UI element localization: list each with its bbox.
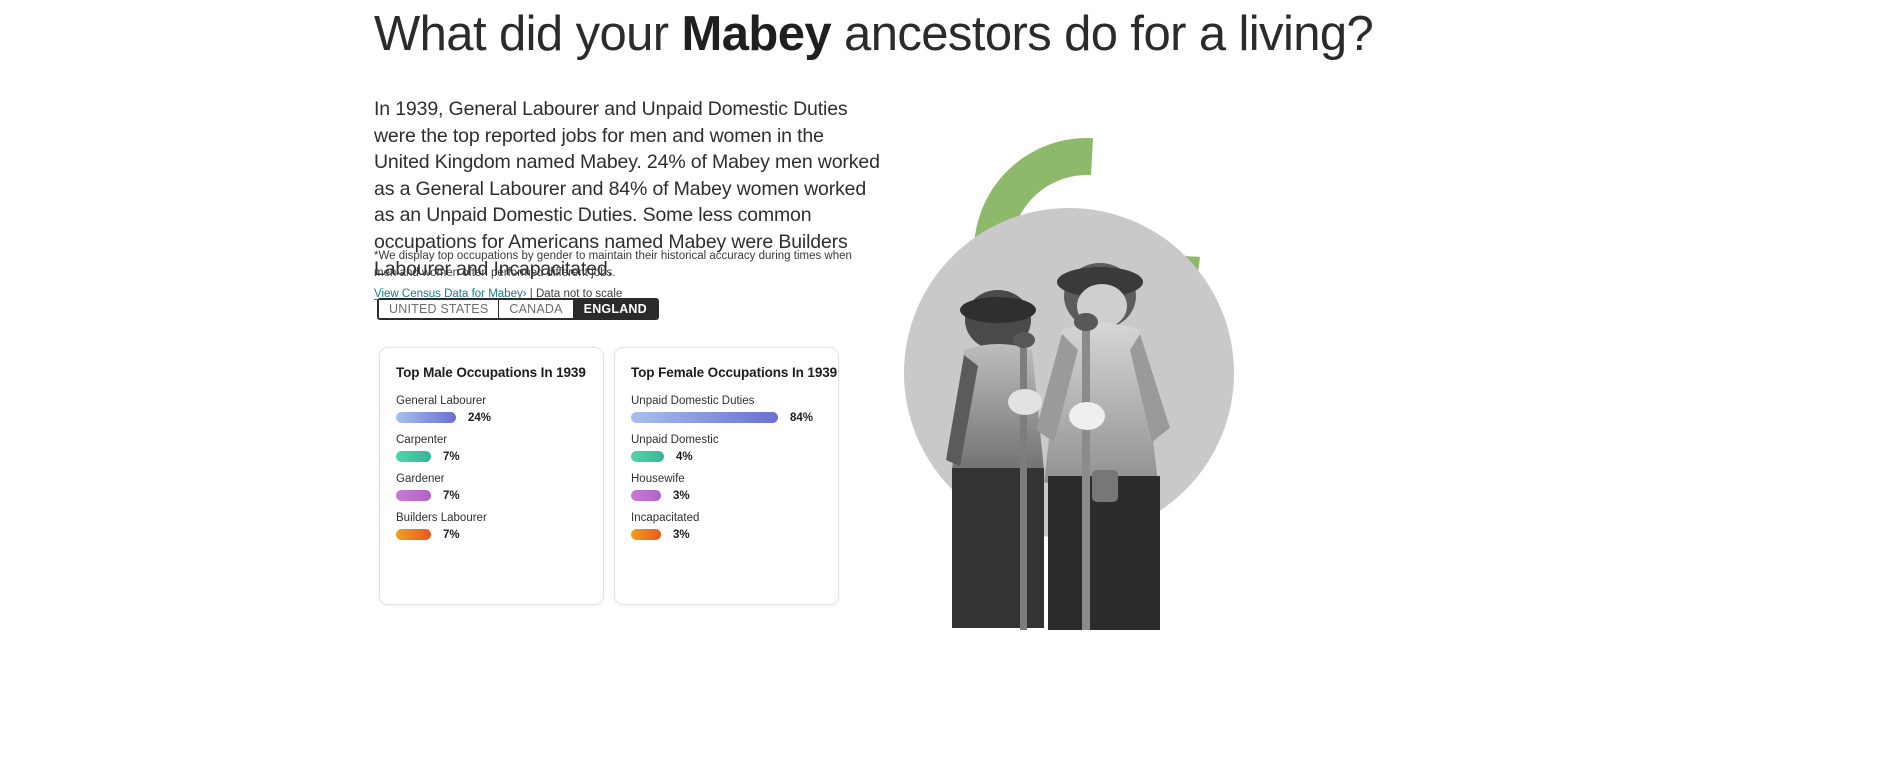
- occupation-label: Carpenter: [396, 434, 587, 446]
- occupation-label: Unpaid Domestic: [631, 434, 822, 446]
- occupation-label: Builders Labourer: [396, 512, 587, 524]
- occupation-percent: 3%: [673, 529, 690, 541]
- occupation-percent: 7%: [443, 529, 460, 541]
- occupation-label: Incapacitated: [631, 512, 822, 524]
- occupation-bar: [631, 412, 778, 423]
- archival-photo: [886, 170, 1216, 630]
- occupation-item: Unpaid Domestic Duties 84%: [631, 395, 822, 423]
- occupation-cards: Top Male Occupations In 1939 General Lab…: [379, 347, 839, 605]
- occupation-item: Carpenter 7%: [396, 434, 587, 462]
- page-title-prefix: What did your: [374, 7, 682, 61]
- occupation-bar: [396, 529, 431, 540]
- occupation-item: Incapacitated 3%: [631, 512, 822, 540]
- occupation-percent: 3%: [673, 490, 690, 502]
- country-tab-united-states[interactable]: UNITED STATES: [379, 300, 499, 318]
- male-card-title: Top Male Occupations In 1939: [396, 365, 587, 380]
- occupation-bar: [631, 451, 664, 462]
- occupation-label: Unpaid Domestic Duties: [631, 395, 822, 407]
- occupation-percent: 7%: [443, 490, 460, 502]
- occupation-item: General Labourer 24%: [396, 395, 587, 423]
- occupation-percent: 7%: [443, 451, 460, 463]
- occupation-percent: 4%: [676, 451, 693, 463]
- occupation-item: Housewife 3%: [631, 473, 822, 501]
- country-tab-england[interactable]: ENGLAND: [574, 300, 657, 318]
- workers-photo-illustration: [886, 170, 1216, 630]
- occupation-bar: [396, 412, 456, 423]
- occupation-percent: 24%: [468, 412, 491, 424]
- occupation-item: Gardener 7%: [396, 473, 587, 501]
- gender-footnote: *We display top occupations by gender to…: [374, 248, 874, 281]
- page-title-surname: Mabey: [682, 7, 832, 61]
- female-occupations-card: Top Female Occupations In 1939 Unpaid Do…: [614, 347, 839, 605]
- occupation-bar: [396, 490, 431, 501]
- country-tab-canada[interactable]: CANADA: [499, 300, 573, 318]
- male-occupations-card: Top Male Occupations In 1939 General Lab…: [379, 347, 604, 605]
- occupation-label: General Labourer: [396, 395, 587, 407]
- occupation-bar: [631, 529, 661, 540]
- occupation-label: Gardener: [396, 473, 587, 485]
- occupation-item: Builders Labourer 7%: [396, 512, 587, 540]
- occupations-page: What did your Mabey ancestors do for a l…: [0, 0, 1894, 775]
- occupation-percent: 84%: [790, 412, 813, 424]
- occupation-bar: [396, 451, 431, 462]
- female-card-title: Top Female Occupations In 1939: [631, 365, 822, 380]
- occupation-item: Unpaid Domestic 4%: [631, 434, 822, 462]
- country-toggle[interactable]: UNITED STATES CANADA ENGLAND: [377, 298, 659, 320]
- occupation-label: Housewife: [631, 473, 822, 485]
- occupation-bar: [631, 490, 661, 501]
- hero-artwork: [886, 0, 1894, 775]
